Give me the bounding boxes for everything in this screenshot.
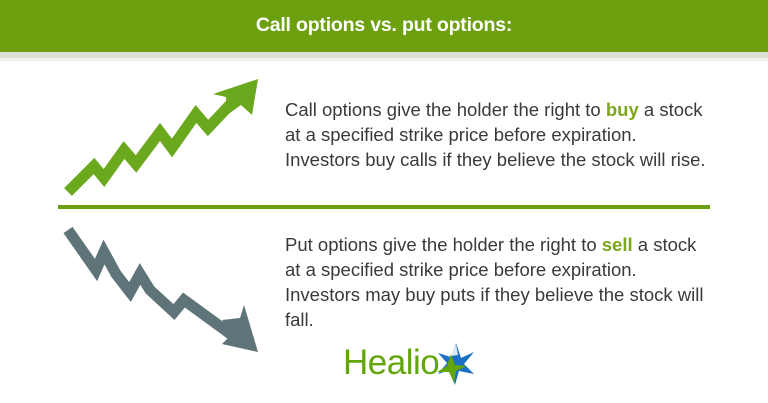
healio-star-icon xyxy=(418,341,474,387)
call-options-text-cell: Call options give the holder the right t… xyxy=(285,97,768,172)
page-title: Call options vs. put options: xyxy=(256,16,512,36)
put-options-paragraph: Put options give the holder the right to… xyxy=(285,232,712,332)
call-options-graphic-cell xyxy=(0,62,285,207)
call-options-paragraph: Call options give the holder the right t… xyxy=(285,97,712,172)
healio-logo[interactable]: Healio xyxy=(343,341,473,387)
call-options-row: Call options give the holder the right t… xyxy=(0,62,768,207)
upward-trend-arrow-icon xyxy=(0,62,285,207)
header-underline-soft-band xyxy=(0,58,768,61)
put-options-accent-word: sell xyxy=(602,234,633,255)
section-divider xyxy=(58,205,710,209)
downward-trend-arrow-icon xyxy=(0,212,285,352)
infographic-root: Call options vs. put options: Call optio… xyxy=(0,0,768,403)
header-bar: Call options vs. put options: xyxy=(0,0,768,52)
call-options-accent-word: buy xyxy=(606,99,639,120)
put-options-row: Put options give the holder the right to… xyxy=(0,212,768,352)
call-options-text-lead: Call options give the holder the right t… xyxy=(285,99,606,120)
put-options-graphic-cell xyxy=(0,212,285,352)
put-options-text-cell: Put options give the holder the right to… xyxy=(285,232,768,332)
put-options-text-lead: Put options give the holder the right to xyxy=(285,234,602,255)
